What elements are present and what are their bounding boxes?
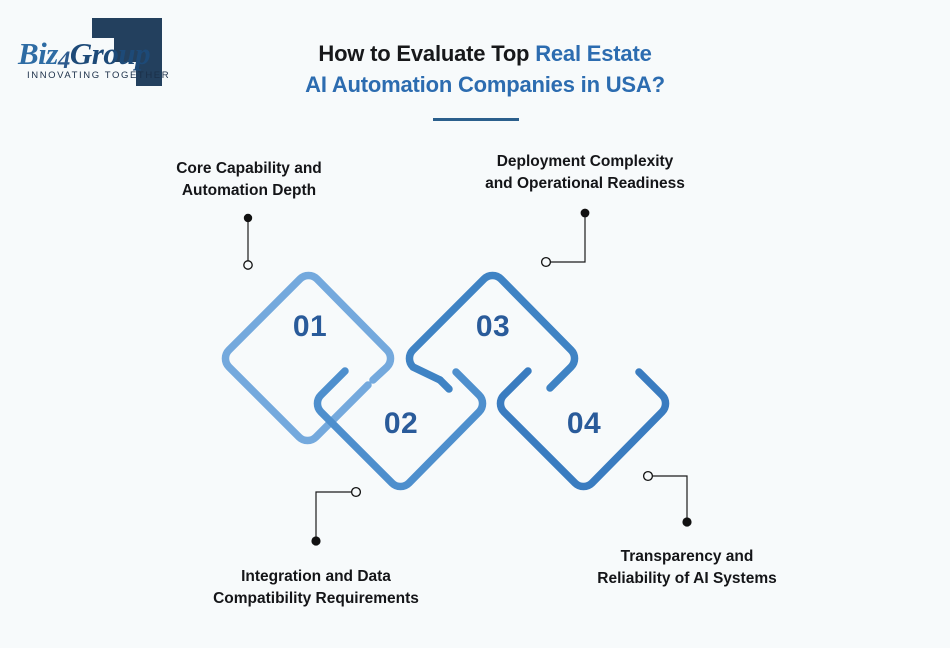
step-label-03-line-2: and Operational Readiness (463, 173, 707, 195)
connector-line-04 (644, 472, 692, 527)
connector-dot-01 (244, 214, 252, 222)
diamond-number-02: 02 (361, 407, 441, 441)
step-label-03-line-1: Deployment Complexity (463, 151, 707, 173)
connector-dot-03 (581, 209, 590, 218)
connector-line-03 (542, 209, 590, 267)
connector-dot-04 (682, 517, 691, 526)
connector-line-01 (244, 214, 252, 269)
diamond-number-03: 03 (453, 310, 533, 344)
connector-line-02 (311, 488, 360, 546)
step-label-01-line-2: Automation Depth (143, 180, 355, 202)
step-label-03: Deployment Complexity and Operational Re… (463, 151, 707, 195)
step-label-04-line-2: Reliability of AI Systems (566, 568, 808, 590)
connector-endpoint-03 (542, 258, 551, 267)
step-label-02-line-1: Integration and Data (176, 566, 456, 588)
connector-endpoint-04 (644, 472, 653, 481)
connector-endpoint-02 (352, 488, 361, 497)
step-label-04-line-1: Transparency and (566, 546, 808, 568)
step-label-02-line-2: Compatibility Requirements (176, 588, 456, 610)
step-label-02: Integration and Data Compatibility Requi… (176, 566, 456, 610)
connector-dot-02 (311, 536, 320, 545)
connector-endpoint-01 (244, 261, 252, 269)
diamond-number-01: 01 (270, 310, 350, 344)
step-label-01: Core Capability and Automation Depth (143, 158, 355, 202)
diamond-number-04: 04 (544, 407, 624, 441)
step-label-04: Transparency and Reliability of AI Syste… (566, 546, 808, 590)
step-label-01-line-1: Core Capability and (143, 158, 355, 180)
